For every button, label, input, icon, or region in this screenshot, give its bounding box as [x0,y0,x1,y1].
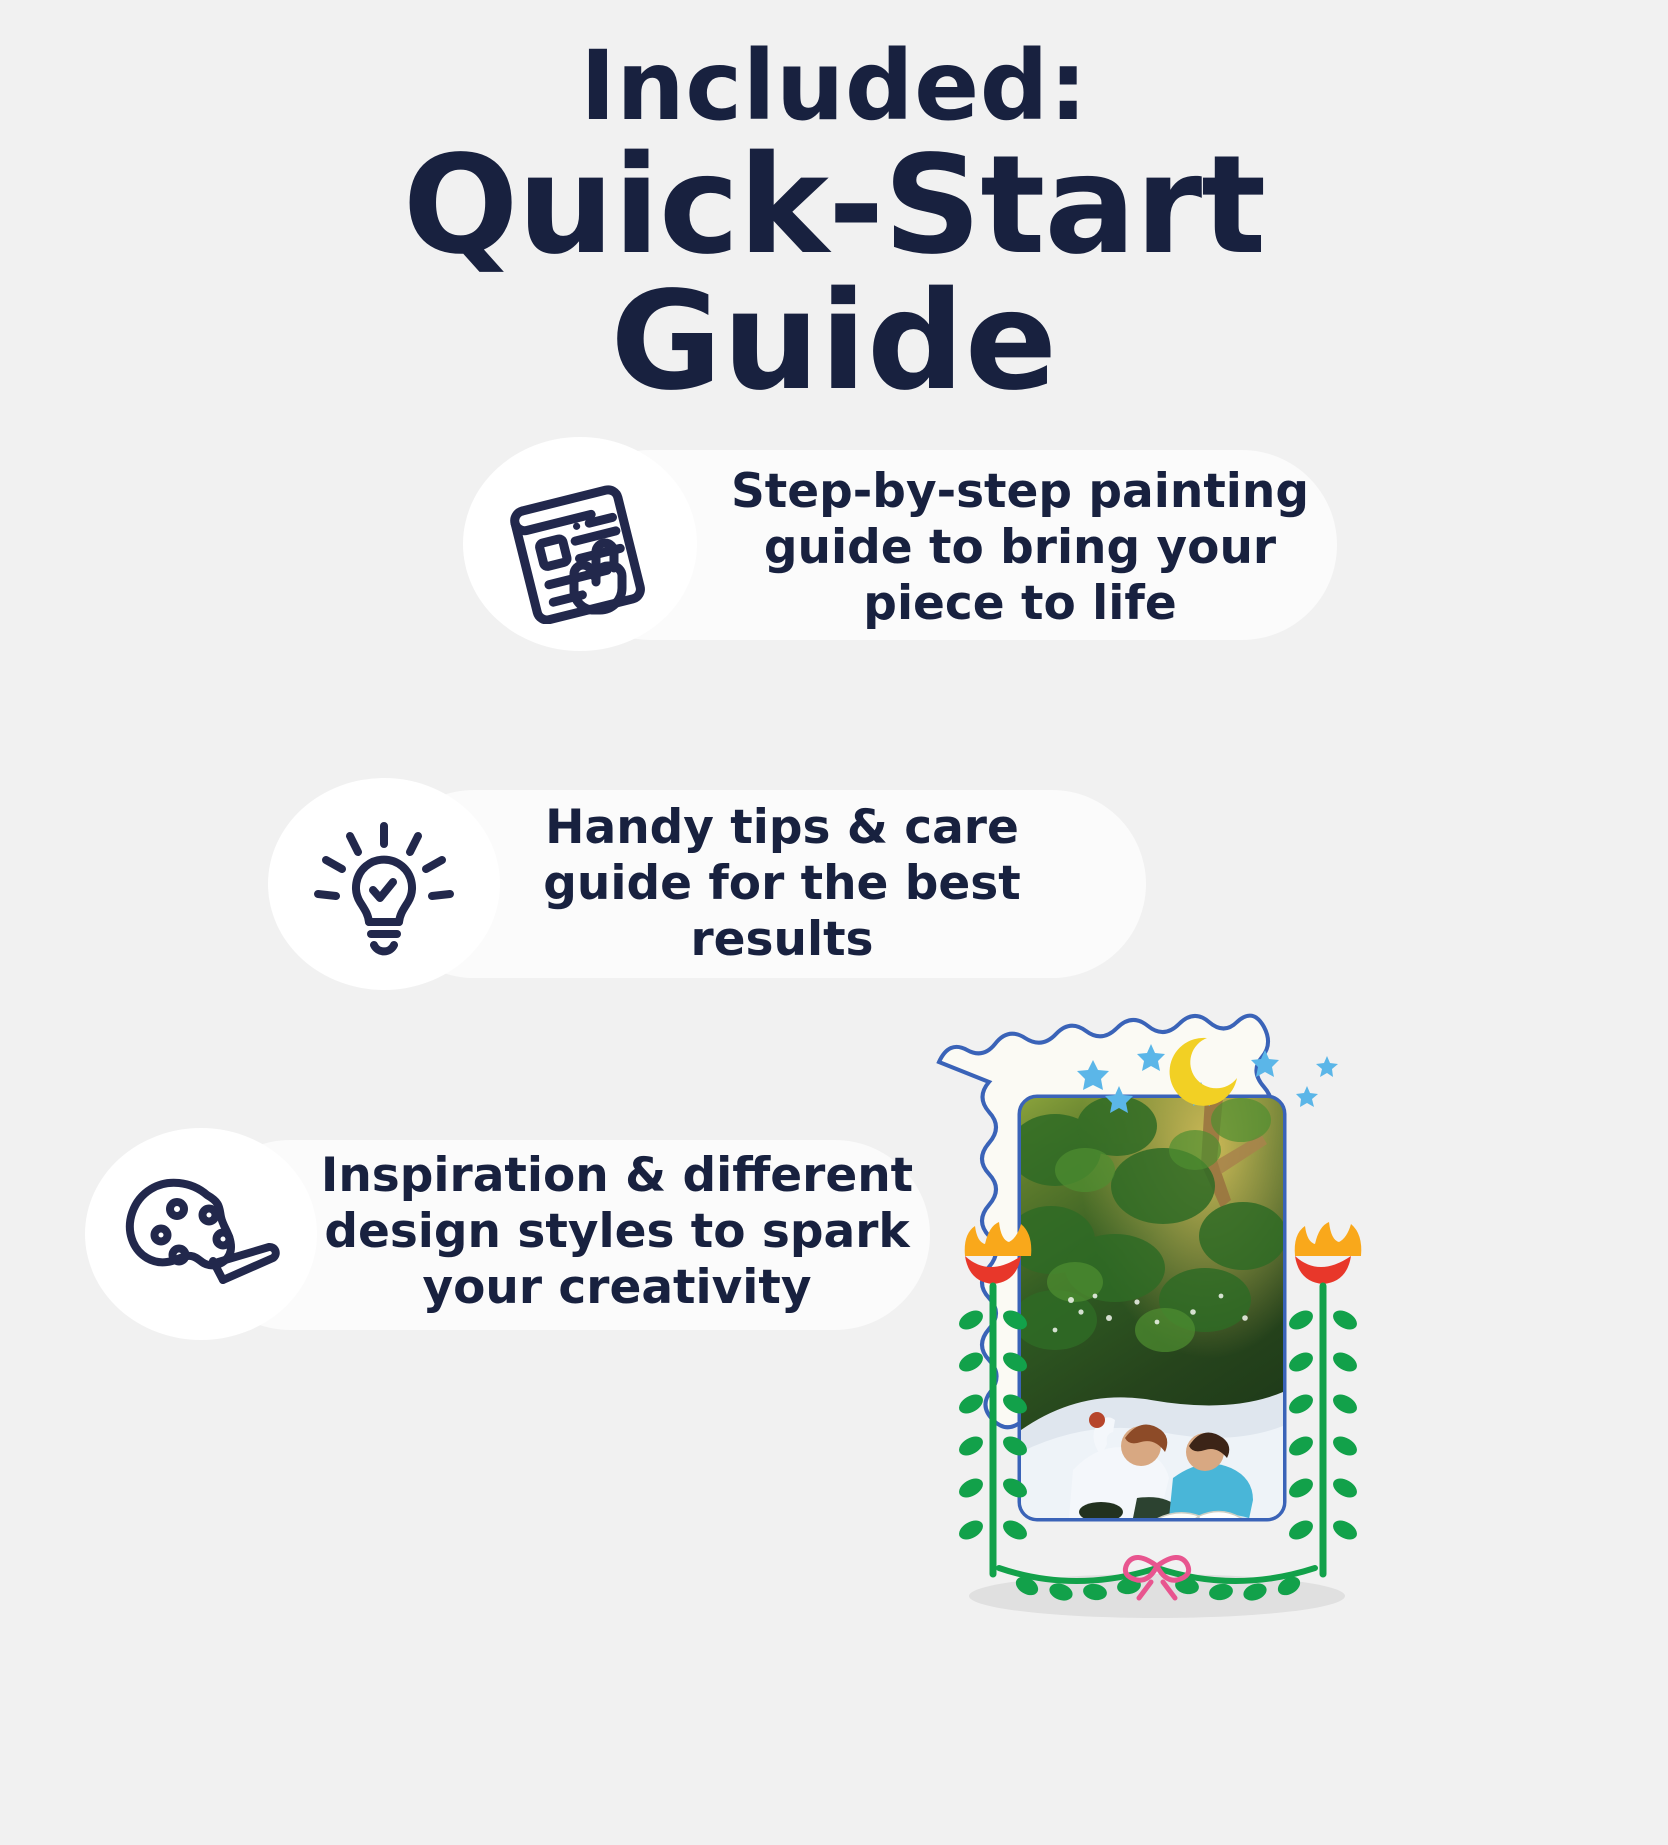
infographic-canvas: Included: Quick-Start Guide [0,0,1668,1845]
title-line-included: Included: [0,34,1668,138]
document-hand-icon [496,464,664,624]
feature-icon-badge [85,1128,317,1340]
title-line-guide: Guide [0,274,1668,410]
paint-palette-brush-icon [119,1159,283,1309]
lightbulb-idea-icon [304,806,464,962]
title-line-quick-start: Quick-Start [0,138,1668,274]
feature-icon-badge [268,778,500,990]
frame-tulip-right [1286,1222,1362,1574]
page-title: Included: Quick-Start Guide [0,34,1668,410]
feature-text: Step-by-step painting guide to bring you… [730,464,1310,632]
product-photo-ceramic-frame [905,1000,1405,1620]
frame-photo-window [1007,1096,1287,1558]
feature-text: Inspiration & different design styles to… [312,1148,922,1316]
feature-icon-badge [463,437,697,651]
feature-text: Handy tips & care guide for the best res… [532,800,1032,968]
